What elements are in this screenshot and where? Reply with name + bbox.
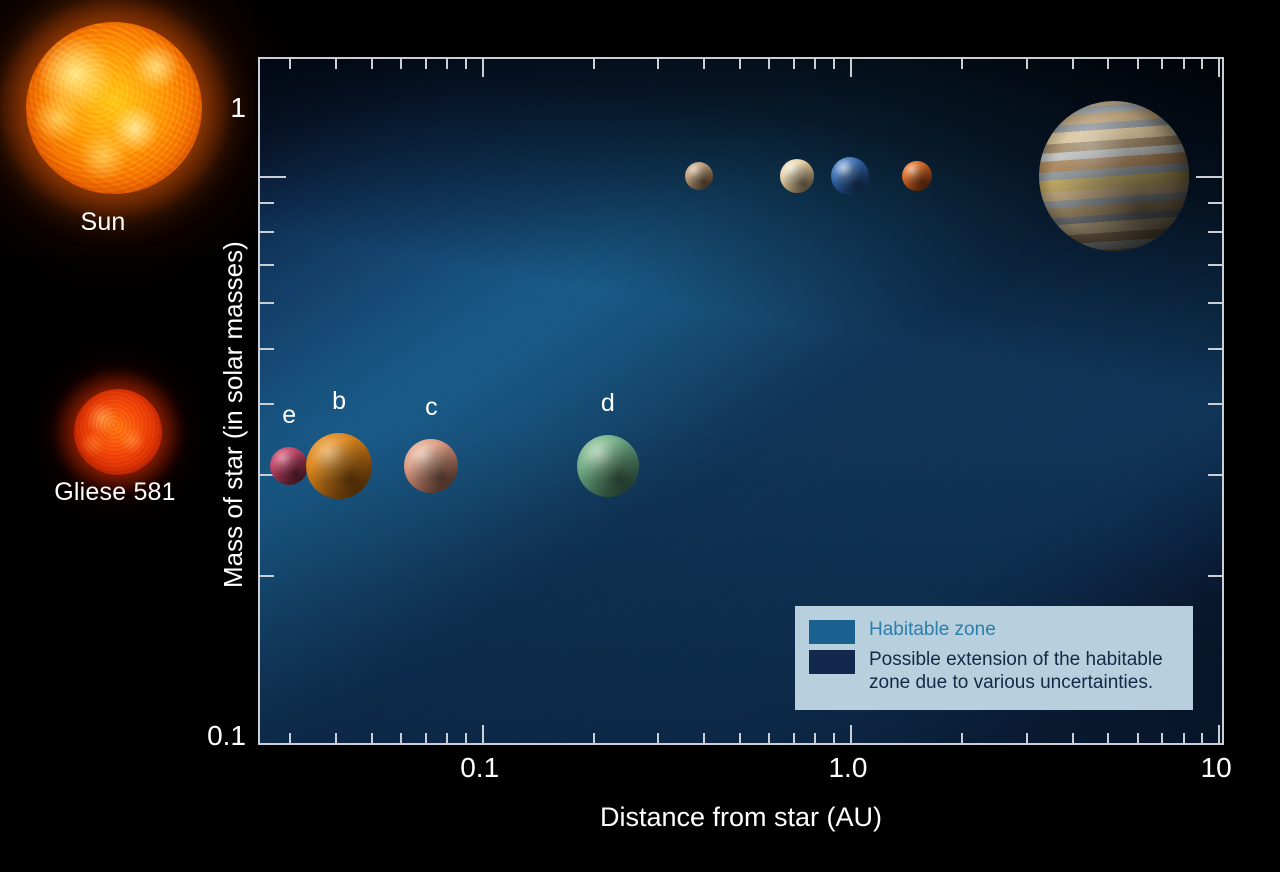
planet-label-b: b bbox=[319, 387, 359, 416]
legend-row-habitable: Habitable zone bbox=[809, 618, 1179, 644]
axis-tick-major bbox=[1218, 725, 1220, 743]
planet-shading bbox=[685, 162, 713, 190]
axis-tick-minor bbox=[260, 202, 274, 204]
legend-swatch-zone-extension bbox=[809, 650, 855, 674]
axis-tick-minor bbox=[425, 59, 427, 69]
axis-tick-minor bbox=[1137, 733, 1139, 743]
axis-tick-minor bbox=[1183, 733, 1185, 743]
axis-tick-minor bbox=[739, 733, 741, 743]
axis-tick-minor bbox=[1208, 348, 1222, 350]
planet-earth bbox=[831, 157, 869, 195]
infographic-canvas: Sun Gliese 581 Mass of star (in solar ma… bbox=[0, 0, 1280, 872]
x-tick-label-1.0: 1.0 bbox=[818, 752, 878, 784]
axis-tick-minor bbox=[768, 59, 770, 69]
axis-tick-minor bbox=[289, 59, 291, 69]
planet-shading bbox=[1039, 101, 1189, 251]
axis-tick-minor bbox=[1208, 231, 1222, 233]
axis-tick-major bbox=[482, 59, 484, 77]
axis-tick-minor bbox=[1208, 264, 1222, 266]
axis-tick-minor bbox=[260, 348, 274, 350]
axis-tick-minor bbox=[657, 59, 659, 69]
axis-tick-minor bbox=[1208, 302, 1222, 304]
axis-tick-minor bbox=[1107, 733, 1109, 743]
planet-label-d: d bbox=[588, 389, 628, 418]
planet-shading bbox=[306, 433, 372, 499]
planet-mercury bbox=[685, 162, 713, 190]
sun-label: Sun bbox=[0, 208, 228, 237]
axis-tick-minor bbox=[1208, 202, 1222, 204]
axis-tick-minor bbox=[1072, 59, 1074, 69]
planet-label-e: e bbox=[269, 401, 309, 430]
axis-tick-minor bbox=[793, 733, 795, 743]
axis-tick-minor bbox=[465, 733, 467, 743]
axis-tick-minor bbox=[814, 59, 816, 69]
axis-tick-minor bbox=[814, 733, 816, 743]
axis-tick-minor bbox=[593, 733, 595, 743]
axis-tick-minor bbox=[961, 733, 963, 743]
planet-shading bbox=[577, 435, 639, 497]
axis-tick-major bbox=[482, 725, 484, 743]
axis-tick-minor bbox=[593, 59, 595, 69]
axis-tick-minor bbox=[1201, 59, 1203, 69]
axis-tick-minor bbox=[703, 59, 705, 69]
axis-tick-minor bbox=[1026, 733, 1028, 743]
axis-tick-minor bbox=[425, 733, 427, 743]
planet-b bbox=[306, 433, 372, 499]
axis-tick-minor bbox=[371, 59, 373, 69]
axis-tick-minor bbox=[768, 733, 770, 743]
axis-tick-minor bbox=[446, 733, 448, 743]
planet-shading bbox=[780, 159, 814, 193]
axis-tick-minor bbox=[833, 733, 835, 743]
axis-tick-minor bbox=[1201, 733, 1203, 743]
axis-tick-minor bbox=[1161, 733, 1163, 743]
planet-d bbox=[577, 435, 639, 497]
axis-tick-minor bbox=[833, 59, 835, 69]
legend-box: Habitable zone Possible extension of the… bbox=[795, 606, 1193, 710]
axis-tick-minor bbox=[289, 733, 291, 743]
axis-tick-major bbox=[850, 59, 852, 77]
planet-shading bbox=[831, 157, 869, 195]
axis-tick-major bbox=[850, 725, 852, 743]
axis-tick-minor bbox=[260, 231, 274, 233]
axis-tick-minor bbox=[371, 733, 373, 743]
axis-tick-minor bbox=[260, 264, 274, 266]
gliese-581-label: Gliese 581 bbox=[0, 478, 240, 507]
axis-tick-minor bbox=[260, 575, 274, 577]
x-axis-title: Distance from star (AU) bbox=[258, 802, 1224, 833]
axis-tick-minor bbox=[657, 733, 659, 743]
legend-label-zone-extension: Possible extension of the habitable zone… bbox=[869, 648, 1163, 694]
axis-tick-minor bbox=[961, 59, 963, 69]
axis-tick-minor bbox=[1161, 59, 1163, 69]
legend-label-zone-extension-line2: zone due to various uncertainties. bbox=[869, 671, 1163, 694]
axis-tick-minor bbox=[260, 302, 274, 304]
axis-tick-major bbox=[1218, 59, 1220, 77]
axis-tick-minor bbox=[446, 59, 448, 69]
x-tick-label-10: 10 bbox=[1186, 752, 1246, 784]
axis-tick-minor bbox=[1208, 474, 1222, 476]
axis-tick-minor bbox=[400, 733, 402, 743]
axis-tick-minor bbox=[1137, 59, 1139, 69]
axis-tick-minor bbox=[1208, 575, 1222, 577]
axis-tick-minor bbox=[703, 733, 705, 743]
planet-label-c: c bbox=[411, 393, 451, 422]
y-tick-label-1: 1 bbox=[186, 92, 246, 124]
axis-tick-minor bbox=[400, 59, 402, 69]
y-tick-label-0.1: 0.1 bbox=[176, 720, 246, 752]
planet-jupiter bbox=[1039, 101, 1189, 251]
axis-tick-minor bbox=[1208, 403, 1222, 405]
y-axis-title: Mass of star (in solar masses) bbox=[218, 241, 249, 588]
planet-shading bbox=[902, 161, 932, 191]
gliese-581-limb-darkening bbox=[74, 389, 162, 475]
sun-limb-darkening bbox=[26, 22, 202, 194]
legend-label-habitable-zone: Habitable zone bbox=[869, 618, 996, 642]
axis-tick-minor bbox=[335, 733, 337, 743]
legend-row-extension: Possible extension of the habitable zone… bbox=[809, 648, 1179, 694]
axis-tick-minor bbox=[1026, 59, 1028, 69]
gliese-581-image bbox=[62, 378, 174, 486]
axis-tick-minor bbox=[793, 59, 795, 69]
axis-tick-major bbox=[260, 176, 286, 178]
planet-mars bbox=[902, 161, 932, 191]
legend-label-zone-extension-line1: Possible extension of the habitable bbox=[869, 648, 1163, 671]
axis-tick-minor bbox=[1107, 59, 1109, 69]
planet-venus bbox=[780, 159, 814, 193]
axis-tick-minor bbox=[465, 59, 467, 69]
axis-tick-minor bbox=[1183, 59, 1185, 69]
axis-tick-minor bbox=[335, 59, 337, 69]
x-tick-label-0.1: 0.1 bbox=[450, 752, 510, 784]
axis-tick-major bbox=[1196, 176, 1222, 178]
legend-swatch-habitable-zone bbox=[809, 620, 855, 644]
axis-tick-minor bbox=[739, 59, 741, 69]
axis-tick-minor bbox=[1072, 733, 1074, 743]
